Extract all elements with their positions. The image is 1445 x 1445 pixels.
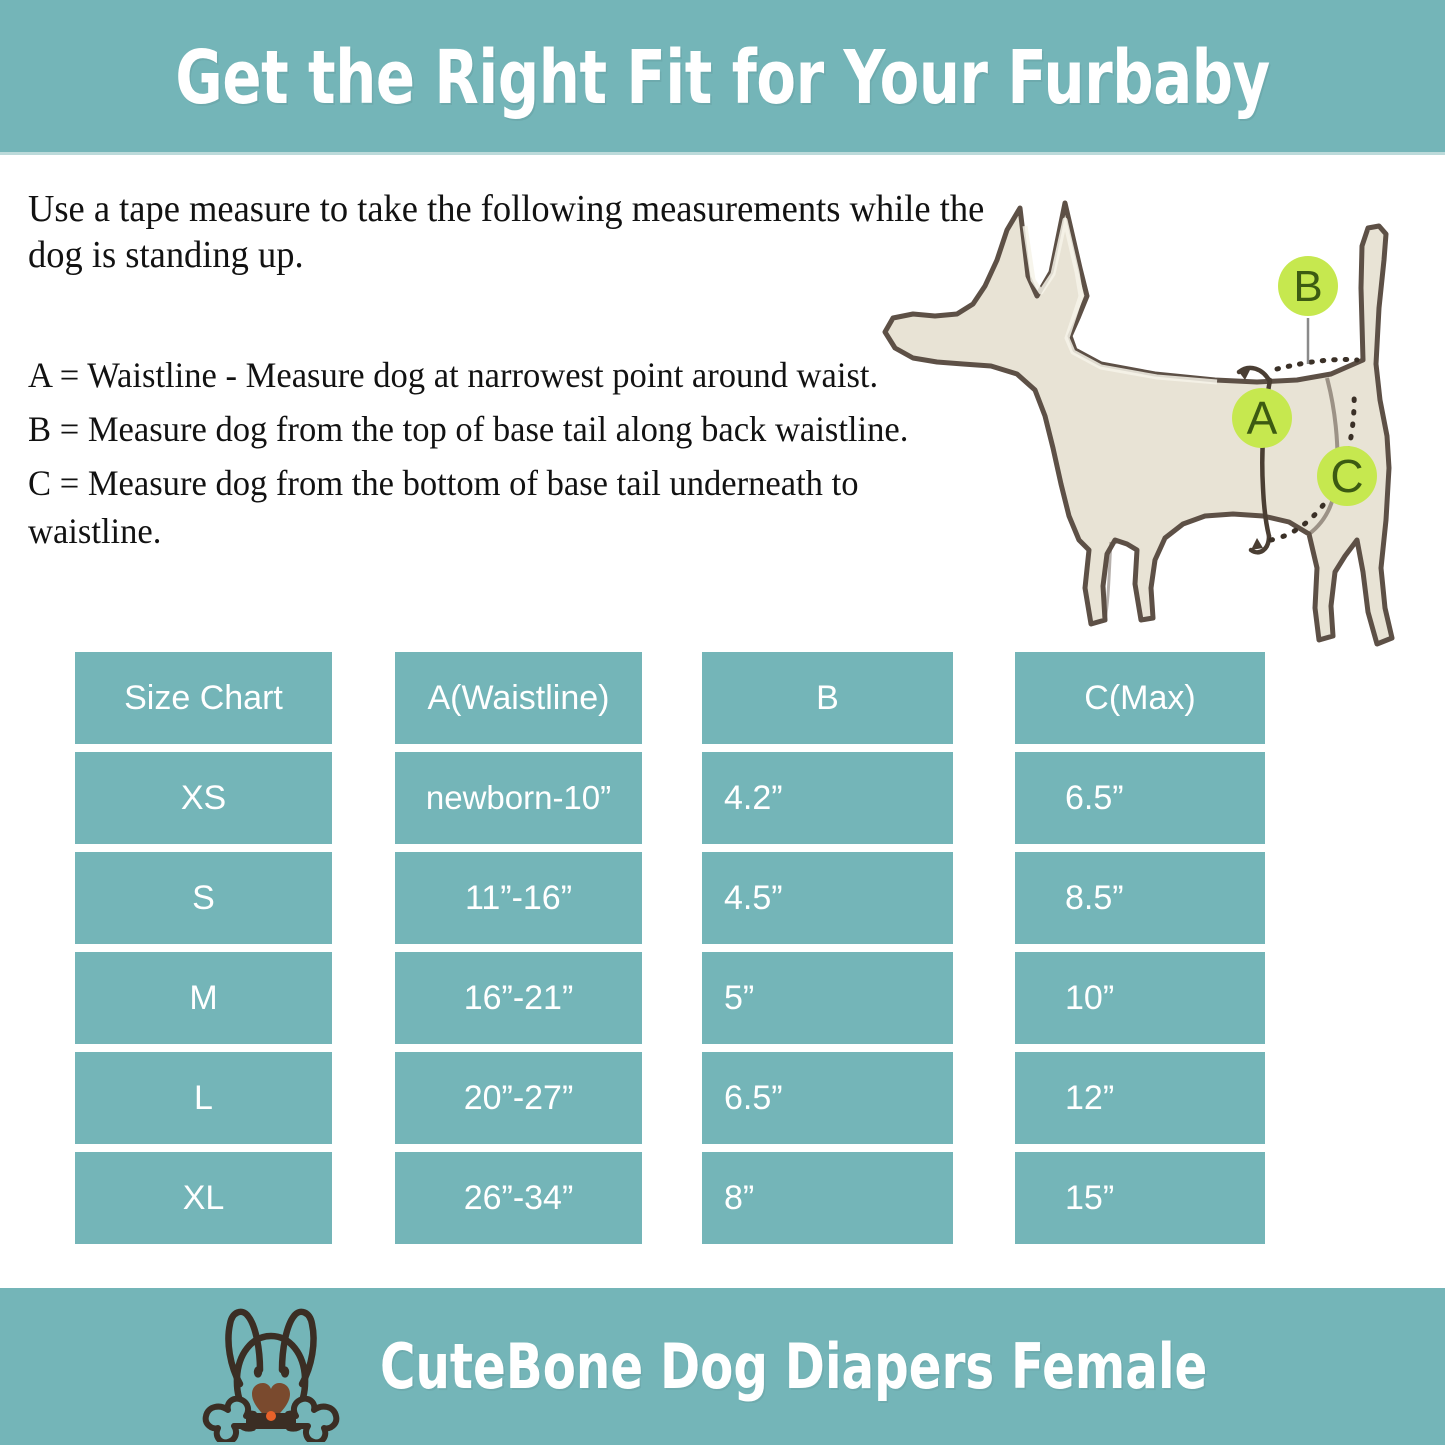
header-cell-waistline: A(Waistline) [395,652,642,744]
size-chart-infographic: Get the Right Fit for Your Furbaby Use a… [0,0,1445,1445]
table-row: M 16”-21” 5” 10” [75,952,1267,1044]
header-cell-b: B [702,652,953,744]
badge-b-label: B [1293,262,1322,311]
cell-b: 4.5” [702,852,953,944]
logo-left-eye [254,1366,262,1377]
header-divider [0,152,1445,155]
cell-waist: 20”-27” [395,1052,642,1144]
header-banner: Get the Right Fit for Your Furbaby [0,4,1445,152]
cell-c: 6.5” [1015,752,1265,844]
dog-illustration: B A C [865,168,1440,658]
definition-b: B = Measure dog from the top of base tai… [28,406,998,454]
cell-c: 10” [1015,952,1265,1044]
cell-waist: 16”-21” [395,952,642,1044]
table-header-row: Size Chart A(Waistline) B C(Max) [75,652,1267,744]
size-chart-table: Size Chart A(Waistline) B C(Max) XS newb… [75,652,1267,1244]
cell-size: L [75,1052,332,1144]
cell-c: 12” [1015,1052,1265,1144]
badge-b: B [1278,256,1338,316]
cell-waist: 26”-34” [395,1152,642,1244]
header-cell-size: Size Chart [75,652,332,744]
cell-c: 15” [1015,1152,1265,1244]
badge-c: C [1317,446,1377,506]
page-title: Get the Right Fit for Your Furbaby [175,35,1270,121]
footer-banner: CuteBone Dog Diapers Female [0,1288,1445,1445]
cell-size: S [75,852,332,944]
table-row: XS newborn-10” 4.2” 6.5” [75,752,1267,844]
table-row: S 11”-16” 4.5” 8.5” [75,852,1267,944]
table-row: L 20”-27” 6.5” 12” [75,1052,1267,1144]
badge-c-label: C [1330,450,1363,502]
table-row: XL 26”-34” 8” 15” [75,1152,1267,1244]
cell-waist: 11”-16” [395,852,642,944]
cell-size: XS [75,752,332,844]
cell-size: XL [75,1152,332,1244]
intro-lead: Use a tape measure to take the following… [28,186,988,279]
cell-b: 5” [702,952,953,1044]
measure-arrowhead-a-bottom [1251,538,1263,550]
badge-a: A [1232,388,1292,448]
logo-right-eye [281,1366,289,1377]
cell-b: 8” [702,1152,953,1244]
header-cell-c: C(Max) [1015,652,1265,744]
logo-accent-dot [266,1411,276,1421]
brand-name: CuteBone Dog Diapers Female [380,1330,1207,1403]
cell-waist: newborn-10” [395,752,642,844]
cell-size: M [75,952,332,1044]
cell-c: 8.5” [1015,852,1265,944]
cell-b: 4.2” [702,752,953,844]
definition-c: C = Measure dog from the bottom of base … [28,460,998,556]
cell-b: 6.5” [702,1052,953,1144]
definition-a: A = Waistline - Measure dog at narrowest… [28,352,998,400]
cutebone-logo-icon [196,1292,346,1442]
badge-a-label: A [1247,392,1278,444]
